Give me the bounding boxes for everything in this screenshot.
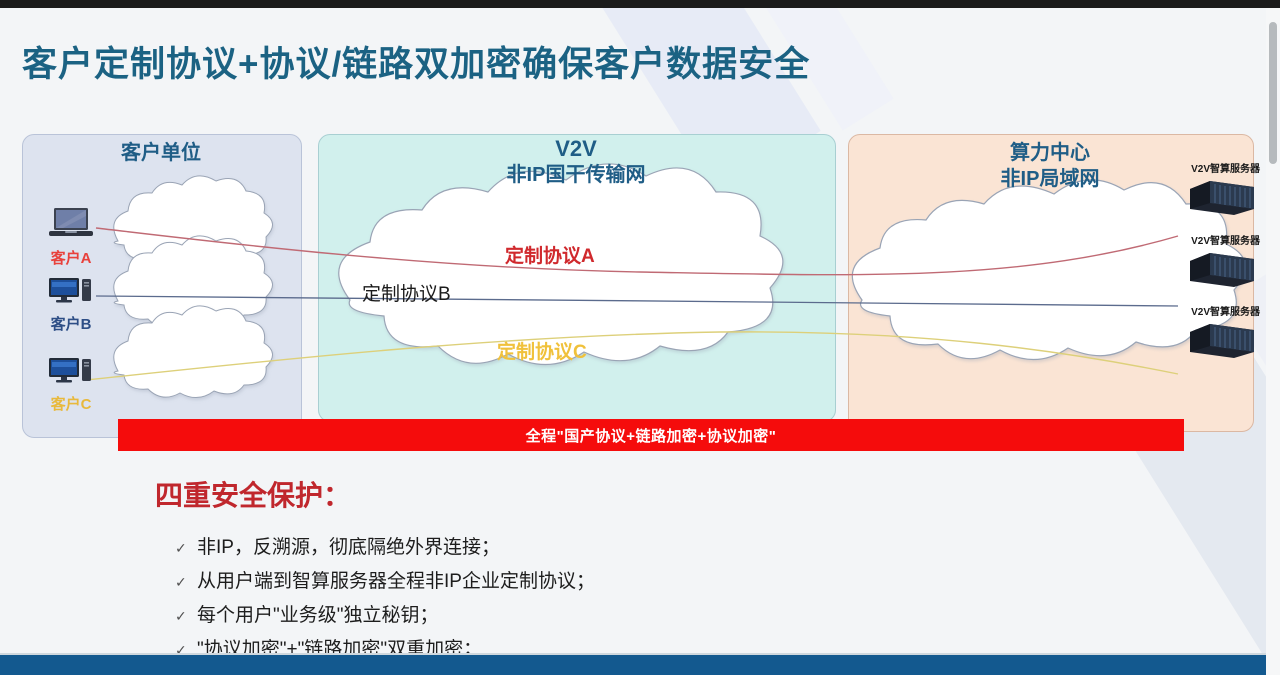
server-rack-icon: [1184, 175, 1260, 219]
top-window-bar: [0, 0, 1280, 8]
check-icon: ✓: [175, 601, 197, 631]
protocol-label-a: 定制协议A: [505, 241, 595, 268]
list-item-label: 每个用户"业务级"独立秘钥；: [197, 601, 439, 631]
panel-title-v2v-line1: V2V: [318, 136, 834, 162]
encryption-banner-text: 全程"国产协议+链路加密+协议加密": [526, 425, 777, 446]
server-node-3: V2V智算服务器: [1140, 303, 1260, 367]
panel-title-customer-line1: 客户单位: [22, 140, 300, 166]
server-label-2: V2V智算服务器: [1140, 232, 1260, 247]
client-node-c: 客户C: [36, 356, 106, 414]
list-item: ✓ 每个用户"业务级"独立秘钥；: [175, 601, 595, 631]
encryption-banner: 全程"国产协议+链路加密+协议加密": [118, 419, 1184, 451]
check-icon: ✓: [175, 567, 197, 597]
check-icon: ✓: [175, 533, 197, 563]
protocol-label-c: 定制协议C: [497, 337, 587, 364]
bottom-accent-bar: [0, 655, 1280, 675]
client-node-b: 客户B: [36, 276, 106, 334]
security-bullet-list: ✓ 非IP，反溯源，彻底隔绝外界连接； ✓ 从用户端到智算服务器全程非IP企业定…: [175, 533, 595, 669]
client-label-a: 客户A: [36, 247, 106, 268]
server-label-3: V2V智算服务器: [1140, 303, 1260, 318]
list-item-label: 非IP，反溯源，彻底隔绝外界连接；: [197, 533, 500, 563]
server-node-2: V2V智算服务器: [1140, 232, 1260, 296]
panel-title-customer-site: 客户单位: [22, 140, 300, 166]
scrollbar-thumb[interactable]: [1269, 22, 1277, 164]
laptop-icon: [47, 206, 95, 240]
client-label-c: 客户C: [36, 393, 106, 414]
server-node-1: V2V智算服务器: [1140, 160, 1260, 224]
server-rack-icon: [1184, 247, 1260, 291]
vertical-scrollbar[interactable]: [1266, 8, 1280, 675]
page-title: 客户定制协议+协议/链路双加密确保客户数据安全: [22, 36, 810, 87]
panel-title-v2v-line2: 非IP国干传输网: [318, 162, 834, 188]
desktop-icon: [45, 276, 97, 306]
client-label-b: 客户B: [36, 313, 106, 334]
server-rack-icon: [1184, 318, 1260, 362]
list-item-label: 从用户端到智算服务器全程非IP企业定制协议；: [197, 567, 595, 597]
client-node-a: 客户A: [36, 206, 106, 268]
server-label-1: V2V智算服务器: [1140, 160, 1260, 175]
security-heading: 四重安全保护：: [155, 474, 351, 514]
desktop-icon: [45, 356, 97, 386]
protocol-label-b: 定制协议B: [362, 279, 451, 306]
slide-canvas: 客户定制协议+协议/链路双加密确保客户数据安全 客户单位 V2V 非IP国干传输…: [0, 0, 1280, 675]
list-item: ✓ 非IP，反溯源，彻底隔绝外界连接；: [175, 533, 595, 563]
panel-title-v2v: V2V 非IP国干传输网: [318, 136, 834, 188]
list-item: ✓ 从用户端到智算服务器全程非IP企业定制协议；: [175, 567, 595, 597]
